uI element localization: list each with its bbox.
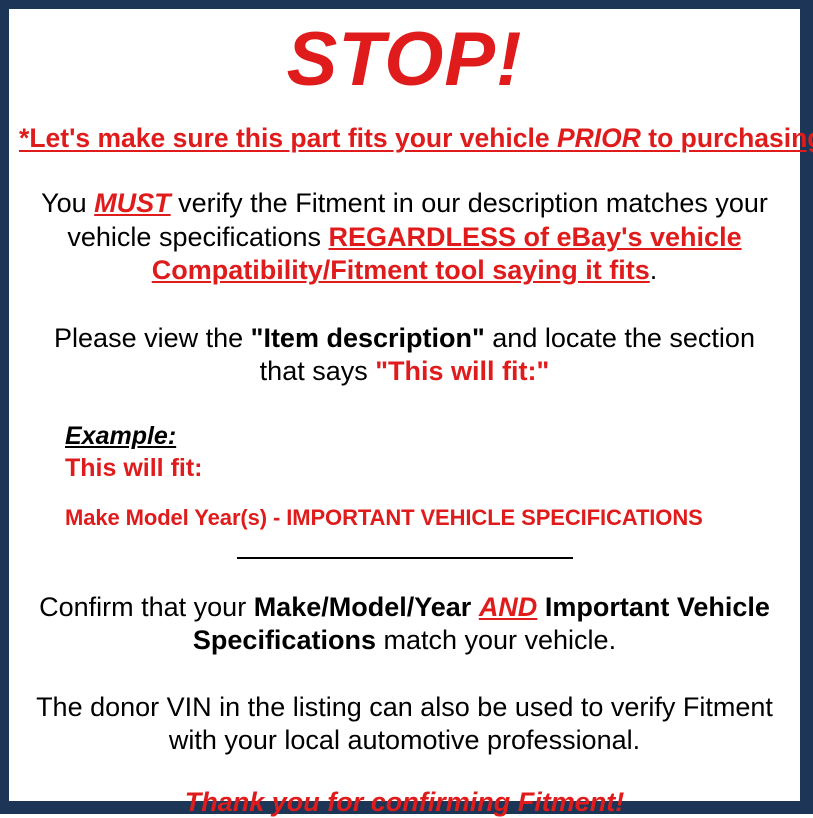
subheading-emphasis-prior: PRIOR [557, 123, 641, 153]
fitment-notice-card: STOP! *Let's make sure this part fits yo… [0, 0, 813, 814]
section-divider [237, 557, 573, 559]
page-title: STOP! [19, 22, 790, 98]
notice-content: STOP! *Let's make sure this part fits yo… [9, 22, 800, 814]
item-description-paragraph: Please view the "Item description" and l… [19, 322, 790, 389]
view-paragraph-seg1: Please view the [54, 323, 251, 353]
donor-vin-paragraph: The donor VIN in the listing can also be… [19, 691, 790, 758]
make-model-year-label: Make/Model/Year [254, 592, 472, 622]
item-description-label: "Item description" [251, 323, 485, 353]
closing-thanks: Thank you for confirming Fitment! [19, 786, 790, 818]
must-emphasis: MUST [94, 188, 171, 218]
confirm-paragraph-seg1: Confirm that your [39, 592, 254, 622]
confirm-paragraph-seg2: match your vehicle. [376, 625, 616, 655]
must-verify-paragraph: You MUST verify the Fitment in our descr… [19, 187, 790, 287]
subheading-text-after: to purchasing* [641, 123, 813, 153]
example-label: Example: [65, 422, 790, 451]
confirm-paragraph: Confirm that your Make/Model/Year AND Im… [19, 591, 790, 658]
subheading: *Let's make sure this part fits your veh… [19, 123, 790, 153]
example-block: Example: This will fit: Make Model Year(… [19, 422, 790, 531]
must-paragraph-seg1: You [41, 188, 94, 218]
and-emphasis: AND [479, 592, 538, 622]
example-vehicle-spec-line: Make Model Year(s) - IMPORTANT VEHICLE S… [65, 505, 790, 531]
must-paragraph-seg3: . [650, 255, 658, 285]
this-will-fit-quote: "This will fit:" [375, 356, 549, 386]
subheading-text-before: *Let's make sure this part fits your veh… [19, 123, 557, 153]
section-divider-wrap [19, 557, 790, 561]
example-this-will-fit: This will fit: [65, 453, 790, 483]
